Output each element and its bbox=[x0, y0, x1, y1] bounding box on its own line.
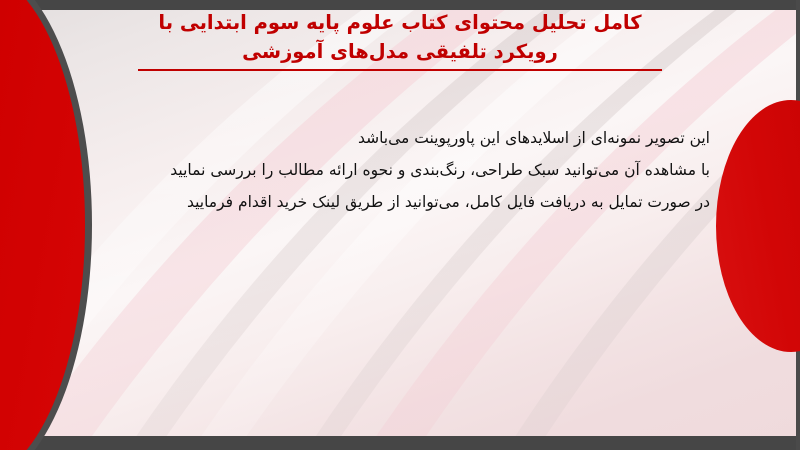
slide-title-line-2: رویکرد تلفیقی مدل‌های آموزشی bbox=[138, 37, 662, 71]
slide-title: کامل تحلیل محتوای کتاب علوم پایه سوم ابت… bbox=[100, 8, 700, 71]
slide-content: کامل تحلیل محتوای کتاب علوم پایه سوم ابت… bbox=[0, 0, 800, 450]
slide-body-line-2: با مشاهده آن می‌توانید سبک طراحی، رنگ‌بن… bbox=[90, 154, 710, 186]
slide-body-line-1: این تصویر نمونه‌ای از اسلایدهای این پاور… bbox=[90, 122, 710, 154]
presentation-slide: کامل تحلیل محتوای کتاب علوم پایه سوم ابت… bbox=[0, 0, 800, 450]
slide-body-line-3: در صورت تمایل به دریافت فایل کامل، می‌تو… bbox=[90, 186, 710, 218]
slide-title-line-1: کامل تحلیل محتوای کتاب علوم پایه سوم ابت… bbox=[158, 11, 641, 34]
slide-body: این تصویر نمونه‌ای از اسلایدهای این پاور… bbox=[90, 122, 710, 218]
